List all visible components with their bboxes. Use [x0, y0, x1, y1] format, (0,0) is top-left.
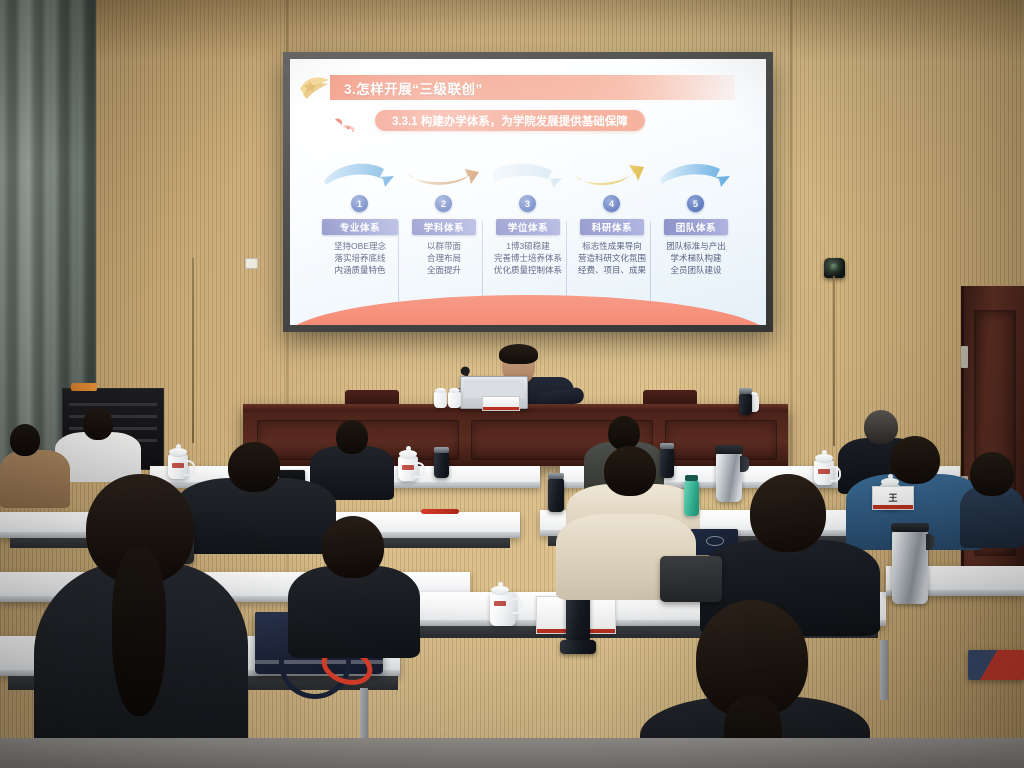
column-line: 坚持OBE理念: [334, 241, 386, 251]
column-divider: [398, 221, 399, 303]
attendee-head: [10, 424, 40, 456]
column-header-text: 团队体系: [676, 220, 716, 234]
red-pen: [421, 509, 459, 514]
attendee-head: [608, 416, 640, 450]
lidded-teacup: [448, 392, 461, 408]
column-line: 营造科研文化氛围: [578, 253, 646, 263]
column-line: 优化质量控制体系: [494, 265, 562, 275]
chair[interactable]: [660, 556, 722, 602]
column-header: 专业体系: [322, 219, 398, 235]
projection-screen-frame: 3.怎样开展“三级联创” 3.3.1 构建办学体系，为学院发展提供基础保障: [283, 52, 773, 332]
presenter-nameplate: [482, 396, 520, 411]
lidded-teacup: [434, 392, 447, 408]
wall-rod: [192, 258, 194, 443]
column-line: 学术梯队构建: [670, 253, 721, 263]
curved-arrow-icon: [574, 155, 650, 195]
column-header-text: 科研体系: [592, 220, 632, 234]
column-line: 内涵质量特色: [334, 265, 385, 275]
column-学位体系: 学位体系 1博3硕稳建 完善博士培养体系 优化质量控制体系: [490, 219, 566, 275]
curved-arrow-icon: [490, 155, 566, 195]
slide-subtitle-text: 3.3.1 构建办学体系，为学院发展提供基础保障: [392, 113, 628, 129]
red-bird-decoration-icon: [334, 116, 360, 134]
column-header: 学科体系: [412, 219, 476, 235]
step-number-row: 1 2 3 4 5: [322, 195, 734, 217]
column-line: 1博3硕稳建: [506, 241, 549, 251]
presentation-slide: 3.怎样开展“三级联创” 3.3.1 构建办学体系，为学院发展提供基础保障: [290, 59, 766, 325]
thermos-cap: [560, 640, 596, 654]
black-thermos: [739, 393, 752, 415]
curved-arrow-icon: [658, 155, 734, 195]
attendee-ponytail: [112, 548, 166, 716]
door-hinge: [961, 346, 968, 368]
attendee-head: [336, 420, 368, 454]
attendee-body: [288, 566, 420, 658]
column-header-text: 专业体系: [340, 220, 380, 234]
arrow-row: [322, 155, 734, 199]
attendee: [288, 516, 420, 646]
camera-cable: [833, 276, 835, 446]
black-thermos: [434, 452, 449, 478]
lidded-teacup: [490, 592, 516, 626]
wall-mounted-camera-icon: [824, 258, 845, 278]
slide-subtitle-pill: 3.3.1 构建办学体系，为学院发展提供基础保障: [375, 110, 645, 131]
step-number-2: 2: [435, 195, 452, 212]
attendee: [34, 474, 248, 768]
steel-vacuum-flask: [892, 530, 928, 604]
column-line: 全员团队建设: [670, 265, 721, 275]
column-专业体系: 专业体系 坚持OBE理念 落实培养底线 内涵质量特色: [322, 219, 398, 275]
column-科研体系: 科研体系 标志性成果导向 营造科研文化氛围 经费、项目、成果: [574, 219, 650, 275]
column-header-text: 学位体系: [508, 220, 548, 234]
attendee: [960, 452, 1024, 542]
column-lines: 团队标准与产出 学术梯队构建 全员团队建设: [658, 241, 734, 275]
column-lines: 标志性成果导向 营造科研文化氛围 经费、项目、成果: [574, 241, 650, 275]
column-line: 全面提升: [427, 265, 461, 275]
column-line: 团队标准与产出: [666, 241, 726, 251]
column-line: 落实培养底线: [334, 253, 385, 263]
column-lines: 以群带面 合理布局 全面提升: [406, 241, 482, 275]
column-团队体系: 团队体系 团队标准与产出 学术梯队构建 全员团队建设: [658, 219, 734, 275]
wall-top-shadow: [0, 0, 1024, 60]
column-line: 以群带面: [427, 241, 461, 251]
column-divider: [650, 221, 651, 303]
step-number-3: 3: [519, 195, 536, 212]
column-line: 经费、项目、成果: [578, 265, 646, 275]
attendee-head: [83, 408, 113, 440]
column-lines: 1博3硕稳建 完善博士培养体系 优化质量控制体系: [490, 241, 566, 275]
floor: [0, 738, 1024, 768]
red-booklet: [968, 650, 1024, 680]
curved-arrow-icon: [406, 155, 482, 195]
presenter-hair: [499, 344, 538, 364]
step-number-5: 5: [687, 195, 704, 212]
attendee-head: [322, 516, 384, 578]
column-学科体系: 学科体系 以群带面 合理布局 全面提升: [406, 219, 482, 275]
column-divider: [482, 221, 483, 303]
slide-title-bar: 3.怎样开展“三级联创”: [330, 75, 735, 100]
column-line: 合理布局: [427, 253, 461, 263]
column-header: 学位体系: [496, 219, 560, 235]
column-header: 团队体系: [664, 219, 728, 235]
slide-title: 3.怎样开展“三级联创”: [344, 78, 483, 98]
attendee-head: [970, 452, 1014, 496]
attendee-head: [750, 474, 826, 552]
column-line: 完善博士培养体系: [494, 253, 562, 263]
table-leg: [880, 640, 888, 700]
lidded-teacup: [398, 456, 418, 481]
column-line: 标志性成果导向: [582, 241, 642, 251]
screenshot-root: 3.怎样开展“三级联创” 3.3.1 构建办学体系，为学院发展提供基础保障: [0, 0, 1024, 768]
wall-switch[interactable]: [245, 258, 258, 269]
column-divider: [566, 221, 567, 303]
party-flag-emblem-icon: [298, 73, 332, 101]
step-number-4: 4: [603, 195, 620, 212]
column-header-text: 学科体系: [424, 220, 464, 234]
attendee-head: [890, 436, 940, 484]
step-number-1: 1: [351, 195, 368, 212]
column-lines: 坚持OBE理念 落实培养底线 内涵质量特色: [322, 241, 398, 275]
curved-arrow-icon: [322, 155, 398, 195]
column-header: 科研体系: [580, 219, 644, 235]
